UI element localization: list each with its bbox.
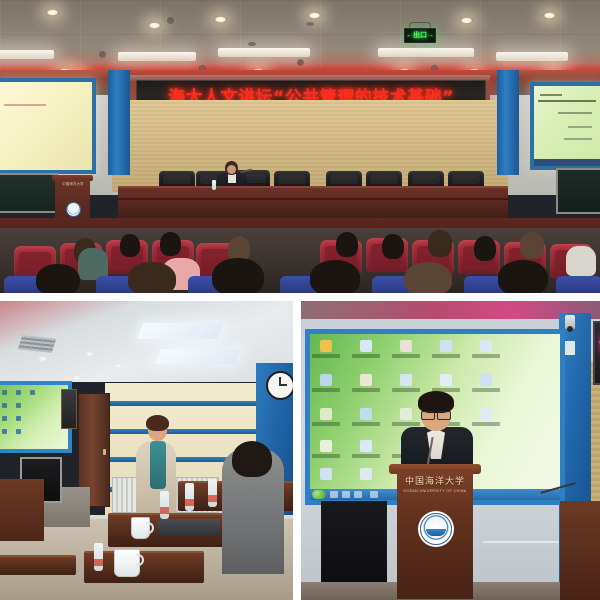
ceiling-downlight: [114, 363, 123, 369]
water-bottle: [185, 483, 194, 511]
desktop-icon-label: [312, 422, 340, 426]
smoke-detector: [306, 22, 314, 26]
security-camera-icon: [565, 315, 575, 329]
front-row-seat: [556, 276, 600, 293]
ceiling-panel-light: [218, 48, 310, 57]
audience-member: [474, 236, 496, 261]
university-logo-icon: [66, 202, 81, 217]
desktop-icon: [480, 374, 492, 386]
water-bottle: [94, 543, 103, 571]
audience-member: [336, 232, 358, 257]
screen-rule: [4, 104, 46, 106]
desktop-icon-label: [472, 422, 500, 426]
front-row-member: [310, 260, 360, 293]
desktop-icon: [16, 416, 21, 421]
ceiling-downlight: [308, 12, 321, 19]
exit-sign-label: ←出口→: [406, 32, 434, 39]
lectern-label: 中国海洋大学: [401, 477, 469, 488]
ceiling-downlight: [72, 375, 81, 381]
standing-speaker-hair: [146, 415, 169, 431]
sprinkler-head: [298, 60, 303, 65]
stage-table: [118, 186, 508, 220]
front-row-member: [36, 264, 80, 293]
desktop-icon: [480, 340, 492, 352]
ceiling-downlight: [46, 9, 59, 16]
led-banner: 讲: [593, 321, 600, 385]
desktop-icon: [320, 408, 332, 420]
mug: [114, 549, 140, 577]
side-lectern: [560, 501, 600, 600]
water-bottle: [212, 180, 216, 190]
desktop-icon-label: [472, 354, 500, 358]
desktop-icon-label: [352, 454, 380, 458]
desktop-icon: [360, 408, 372, 420]
taskbar-icon[interactable]: [342, 491, 350, 498]
slide-line: [558, 112, 592, 114]
desktop-icon: [360, 374, 372, 386]
desktop-icon: [400, 408, 412, 420]
photo-seminar-room: [0, 301, 293, 600]
ceiling-downlight: [543, 12, 556, 19]
taskbar-icon[interactable]: [354, 491, 362, 498]
blackboard-right: [556, 168, 600, 214]
desktop-icon-label: [472, 388, 500, 392]
desktop-icon: [2, 390, 7, 395]
laptop: [158, 519, 220, 536]
projection-screen-right: [530, 82, 600, 170]
blue-wall-column-right: [497, 70, 519, 175]
ceiling-panel-light: [118, 52, 196, 61]
desktop-icon-label: [312, 388, 340, 392]
start-button-icon[interactable]: [312, 490, 326, 499]
slide-line: [540, 94, 562, 96]
slide-footer-bar: [534, 159, 600, 166]
university-logo-icon: [420, 513, 452, 545]
desktop-icon: [400, 374, 412, 386]
desktop-icon: [30, 390, 35, 395]
blue-wall-column-left: [108, 70, 130, 175]
wall-clock-icon: [266, 371, 293, 400]
ceiling-downlight: [214, 16, 227, 23]
taskbar-icon[interactable]: [370, 491, 378, 498]
ceiling-downlight: [148, 22, 161, 29]
desktop-icon-label: [352, 422, 380, 426]
mug: [131, 517, 150, 539]
sprinkler-head: [100, 52, 105, 57]
smoke-detector: [248, 42, 256, 46]
ceiling-panel-light: [378, 48, 474, 57]
desktop-icon-label: [392, 388, 420, 392]
audience-member: [520, 232, 544, 259]
front-row-member: [128, 262, 176, 293]
desktop-icon: [360, 468, 372, 480]
podium-label: 中国海洋大学: [58, 182, 88, 186]
taskbar-icon[interactable]: [330, 491, 338, 498]
audience-member: [160, 232, 181, 256]
ceiling-light-strip: [301, 301, 600, 319]
audience-member: [120, 234, 140, 257]
desktop-icon: [440, 374, 452, 386]
slide-line: [564, 138, 592, 140]
photo-collage: ←出口→ 海大人文讲坛“公共管理的技术基础” 中国海洋大学: [0, 0, 600, 600]
seated-attendee-head: [232, 441, 272, 477]
desktop-icon: [320, 340, 332, 352]
exit-sign: ←出口→: [404, 28, 436, 43]
wall-speaker: [61, 389, 77, 429]
front-row-member: [498, 260, 548, 293]
desktop-icon-label: [392, 354, 420, 358]
ceiling-downlight: [85, 351, 94, 357]
desktop-icon-label: [392, 422, 420, 426]
audience-member: [428, 230, 452, 257]
desktop-icon-label: [352, 354, 380, 358]
skylight-panel: [155, 349, 241, 364]
lectern-sublabel: OCEAN UNIVERSITY OF CHINA: [401, 489, 469, 493]
desktop-icon: [480, 408, 492, 420]
seated-speaker-shirt: [228, 174, 236, 183]
skylight-panel: [137, 323, 223, 339]
desktop-icon: [2, 429, 7, 434]
desktop-icon: [360, 440, 372, 452]
ceiling-panel-light: [0, 50, 54, 59]
slide-line: [538, 100, 596, 102]
water-bottle: [208, 479, 217, 507]
photo-auditorium-overview: ←出口→ 海大人文讲坛“公共管理的技术基础” 中国海洋大学: [0, 0, 600, 293]
desktop-icon: [360, 340, 372, 352]
desktop-icon-label: [432, 354, 460, 358]
seated-speaker-face: [227, 165, 236, 174]
panel-divider: [483, 541, 559, 543]
audience-member: [566, 246, 596, 276]
desktop-icon: [16, 429, 21, 434]
desktop-icon: [2, 403, 7, 408]
desktop-icon-label: [352, 388, 380, 392]
ceiling-panel-light: [496, 52, 568, 61]
water-bottle: [160, 491, 169, 519]
ceiling-downlight: [460, 17, 473, 24]
desktop-icon-label: [312, 354, 340, 358]
sprinkler-head: [168, 18, 173, 23]
desktop-icon: [440, 340, 452, 352]
desktop-icon-label: [312, 454, 340, 458]
front-row-member: [212, 258, 264, 293]
desktop-icon: [2, 416, 7, 421]
desktop-icon: [320, 468, 332, 480]
desktop-icon: [320, 374, 332, 386]
front-row-member: [404, 262, 452, 293]
glasses-icon: [421, 411, 451, 418]
desktop-icon: [320, 440, 332, 452]
conference-table: [0, 555, 76, 575]
standing-speaker-hair: [418, 391, 454, 413]
blackboard-left: [0, 173, 58, 213]
desktop-icon: [16, 403, 21, 408]
dark-wall-panel: [321, 501, 387, 591]
podium: [0, 479, 44, 541]
audience-member: [382, 234, 404, 259]
projection-screen-left: [0, 78, 96, 174]
slide-line: [568, 126, 592, 128]
desktop-icon: [16, 390, 21, 395]
standing-speaker-scarf: [150, 441, 166, 489]
desktop-icon: [400, 340, 412, 352]
ceiling-downlight: [38, 356, 47, 362]
photo-podium-speech: 讲: [301, 301, 600, 600]
